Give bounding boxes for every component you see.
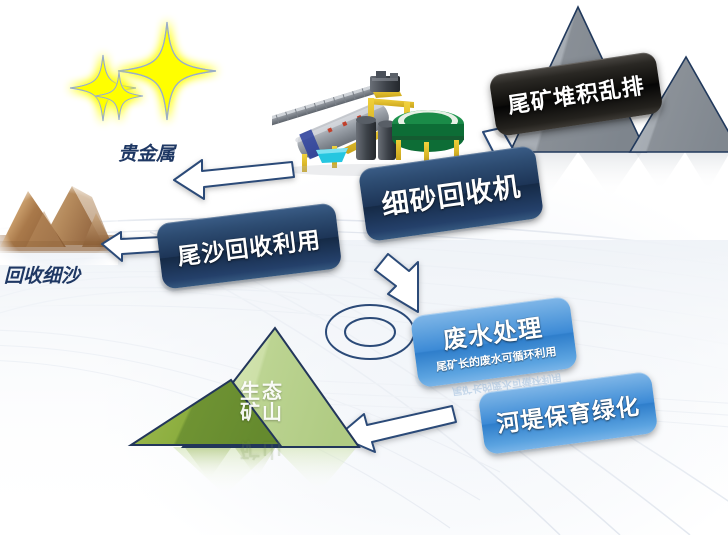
plate-tailings-reuse-label: 尾沙回收利用 <box>175 220 322 271</box>
diagram-canvas: 生态 矿山 矿山 贵金属 回收细沙 <box>0 0 728 535</box>
eco-mine-label: 生态 矿山 <box>226 381 298 423</box>
eco-mine-label-line2: 矿山 <box>226 402 298 423</box>
eco-mine-label-reflection-line1: 矿山 <box>226 439 298 460</box>
arrow-machine-to-wastewater <box>374 242 458 316</box>
plate-tailings-piling-label: 尾矿堆积乱排 <box>505 68 646 120</box>
sparkle-large <box>118 22 216 120</box>
sparkle-medium <box>70 55 136 121</box>
plate-riverbank-greening-label: 河堤保育绿化 <box>494 387 641 440</box>
sparkles-group <box>48 8 238 148</box>
eco-mine-label-line1: 生态 <box>226 381 298 402</box>
plate-fine-sand-recycler-label: 细砂回收机 <box>379 164 523 222</box>
label-recovered-fine-sand: 回收细沙 <box>4 261 80 288</box>
label-precious-metals: 贵金属 <box>118 139 175 166</box>
eco-mine-label-reflection: 矿山 <box>226 439 298 460</box>
